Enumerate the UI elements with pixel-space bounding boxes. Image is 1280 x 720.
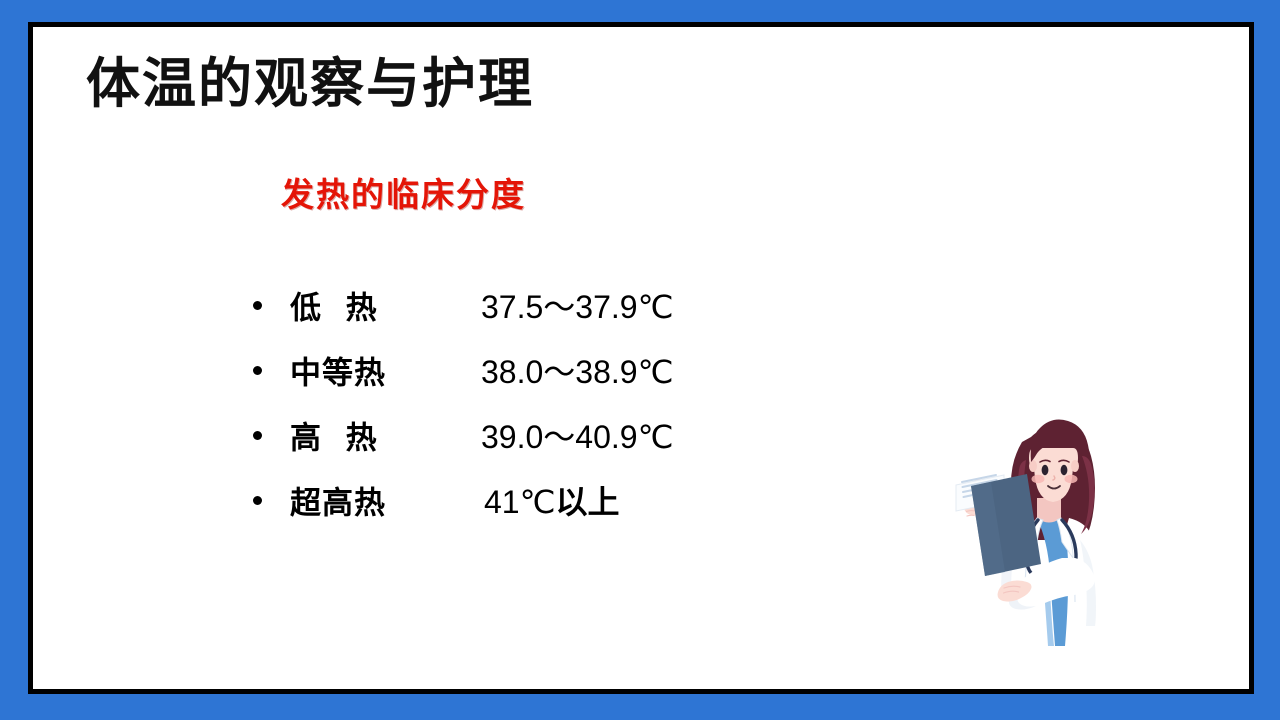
fever-grade-term: 高 热	[290, 412, 378, 457]
fever-grade-range: 37.5～37.9℃	[481, 282, 674, 328]
bullet-icon	[253, 366, 262, 375]
fever-grade-term: 低 热	[290, 282, 378, 327]
slide-canvas: 体温的观察与护理 发热的临床分度 低 热 37.5～37.9℃ 中等热 38.0…	[0, 0, 1280, 720]
slide-content: 体温的观察与护理 发热的临床分度 低 热 37.5～37.9℃ 中等热 38.0…	[0, 0, 1280, 720]
fever-grade-term: 超高热	[290, 477, 386, 522]
list-item: 高 热 39.0～40.9℃	[250, 402, 770, 467]
clipboard-icon	[956, 474, 1041, 576]
list-item: 低 热 37.5～37.9℃	[250, 272, 770, 337]
list-item: 中等热 38.0～38.9℃	[250, 337, 770, 402]
female-doctor-illustration	[930, 390, 1165, 685]
fever-grade-term: 中等热	[290, 347, 386, 392]
fever-grade-range: 39.0～40.9℃	[481, 412, 674, 458]
fever-grade-list: 低 热 37.5～37.9℃ 中等热 38.0～38.9℃ 高 热 39.0～4…	[250, 272, 770, 532]
list-item: 超高热 41℃以上	[250, 467, 770, 532]
blush-right	[1065, 475, 1078, 483]
fever-grade-range: 41℃以上	[484, 477, 620, 523]
bullet-icon	[253, 431, 262, 440]
blush-left	[1032, 475, 1045, 483]
section-subtitle: 发热的临床分度	[281, 168, 526, 216]
fever-grade-range: 38.0～38.9℃	[481, 347, 674, 393]
bullet-icon	[253, 301, 262, 310]
bullet-icon	[253, 496, 262, 505]
page-title: 体温的观察与护理	[86, 52, 534, 114]
eye-right	[1061, 465, 1068, 475]
eye-left	[1042, 465, 1049, 475]
